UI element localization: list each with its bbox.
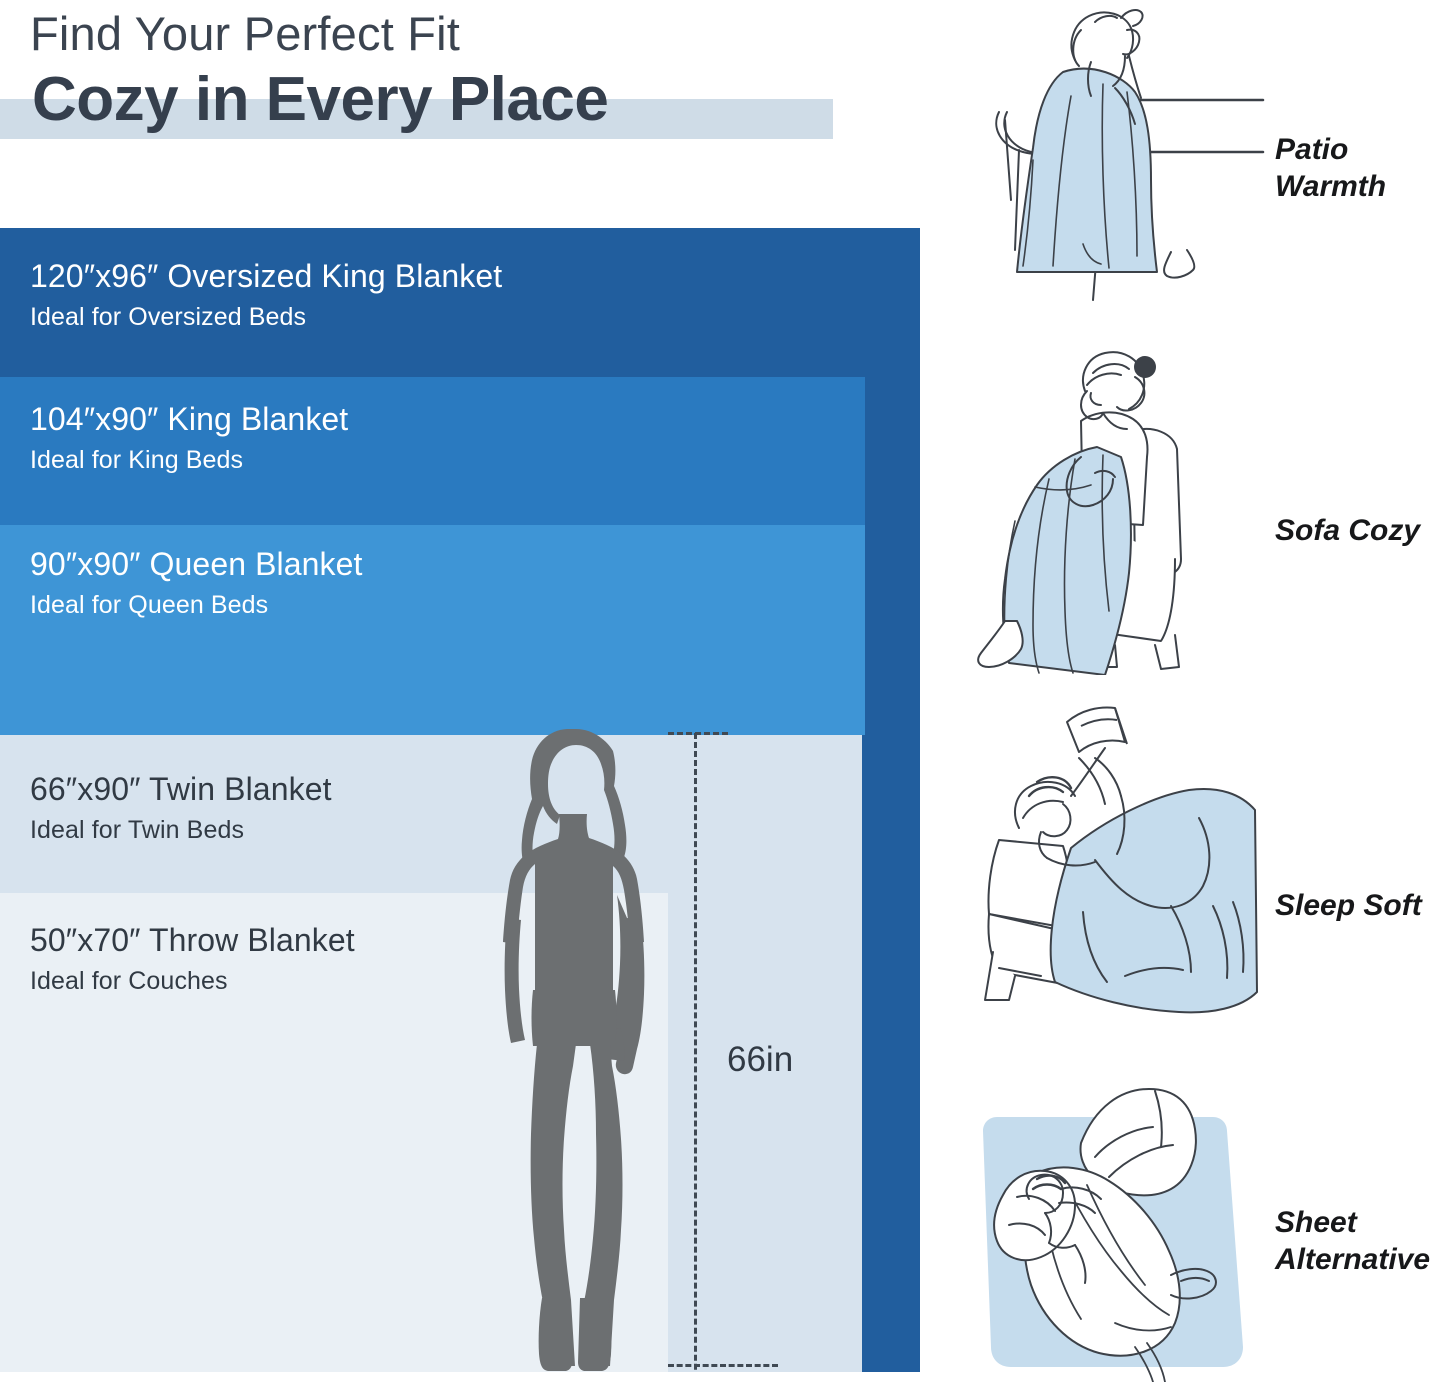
scene-sheet-alternative: Sheet Alternative: [975, 1085, 1445, 1382]
size-title-queen: 90″x90″ Queen Blanket: [30, 548, 363, 580]
sofa-cozy-illustration-icon: [975, 345, 1265, 675]
header: Find Your Perfect Fit Cozy in Every Plac…: [0, 0, 900, 200]
scene-label-sofa-cozy: Sofa Cozy: [1275, 513, 1420, 550]
scene-label-sleep-soft: Sleep Soft: [1275, 888, 1422, 925]
sleep-soft-illustration-icon: [975, 700, 1275, 1030]
scene-label-patio-warmth: Patio Warmth: [1275, 132, 1386, 205]
size-title-throw: 50″x70″ Throw Blanket: [30, 924, 355, 956]
person-height-label: 66in: [727, 1040, 793, 1080]
sheet-alternative-illustration-icon: [975, 1085, 1275, 1382]
person-silhouette-icon: [455, 728, 695, 1372]
page-title: Cozy in Every Place: [32, 64, 608, 135]
size-sub-throw: Ideal for Couches: [30, 969, 355, 994]
measure-guide-top: [668, 732, 728, 735]
size-sub-king: Ideal for King Beds: [30, 448, 348, 473]
eyebrow-text: Find Your Perfect Fit: [30, 6, 460, 61]
size-title-oversized-king: 120″x96″ Oversized King Blanket: [30, 260, 502, 292]
scene-label-sheet-alternative: Sheet Alternative: [1275, 1205, 1430, 1278]
measure-guide-line: [694, 733, 697, 1372]
size-sub-oversized-king: Ideal for Oversized Beds: [30, 305, 502, 330]
size-sub-queen: Ideal for Queen Beds: [30, 593, 363, 618]
size-label-twin: 66″x90″ Twin Blanket Ideal for Twin Beds: [30, 773, 332, 843]
blanket-size-chart: 66in 120″x96″ Oversized King Blanket Ide…: [0, 228, 920, 1372]
size-title-twin: 66″x90″ Twin Blanket: [30, 773, 332, 805]
size-label-queen: 90″x90″ Queen Blanket Ideal for Queen Be…: [30, 548, 363, 618]
size-label-oversized-king: 120″x96″ Oversized King Blanket Ideal fo…: [30, 260, 502, 330]
scene-sofa-cozy: Sofa Cozy: [975, 345, 1445, 675]
size-label-king: 104″x90″ King Blanket Ideal for King Bed…: [30, 403, 348, 473]
measure-guide-bottom: [668, 1364, 778, 1367]
scene-patio-warmth: Patio Warmth: [975, 0, 1445, 320]
size-label-throw: 50″x70″ Throw Blanket Ideal for Couches: [30, 924, 355, 994]
size-sub-twin: Ideal for Twin Beds: [30, 818, 332, 843]
patio-warmth-illustration-icon: [975, 0, 1265, 320]
size-title-king: 104″x90″ King Blanket: [30, 403, 348, 435]
scene-sleep-soft: Sleep Soft: [975, 700, 1445, 1030]
